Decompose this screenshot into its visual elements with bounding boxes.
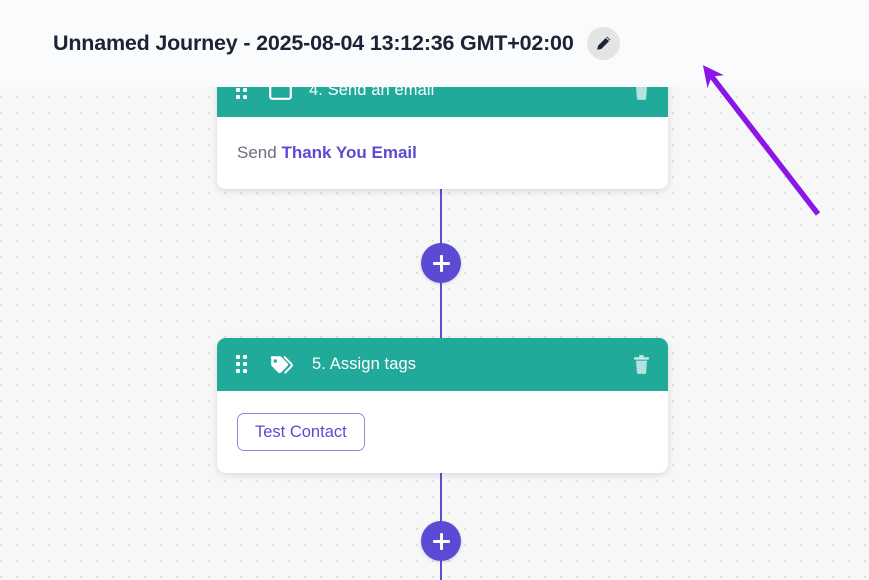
journey-header-bar: Unnamed Journey - 2025-08-04 13:12:36 GM… <box>0 0 869 87</box>
journey-node-assign-tags[interactable]: 5. Assign tags Test Contact <box>217 338 668 473</box>
email-prefix-text: Send <box>237 143 277 162</box>
email-template-link[interactable]: Thank You Email <box>281 143 416 162</box>
plus-icon-vertical <box>440 533 443 550</box>
node-title: 5. Assign tags <box>312 355 416 374</box>
node-header-assign-tags: 5. Assign tags <box>217 338 668 391</box>
trash-icon[interactable] <box>633 354 650 375</box>
page-title: Unnamed Journey - 2025-08-04 13:12:36 GM… <box>53 31 574 56</box>
tag-icon <box>269 355 295 375</box>
node-body-send-an-email: Send Thank You Email <box>217 117 668 189</box>
node-body-assign-tags: Test Contact <box>217 391 668 473</box>
journey-header-inner: Unnamed Journey - 2025-08-04 13:12:36 GM… <box>0 27 620 60</box>
tag-chip-test-contact[interactable]: Test Contact <box>237 413 365 451</box>
edit-journey-name-button[interactable] <box>587 27 620 60</box>
add-step-button-1[interactable] <box>421 243 461 283</box>
add-step-button-2[interactable] <box>421 521 461 561</box>
drag-handle-icon[interactable] <box>236 355 249 374</box>
journey-builder-app: 4. Send an email Send Thank You Email <box>0 0 869 580</box>
plus-icon-vertical <box>440 255 443 272</box>
email-summary-line: Send Thank You Email <box>237 143 417 163</box>
